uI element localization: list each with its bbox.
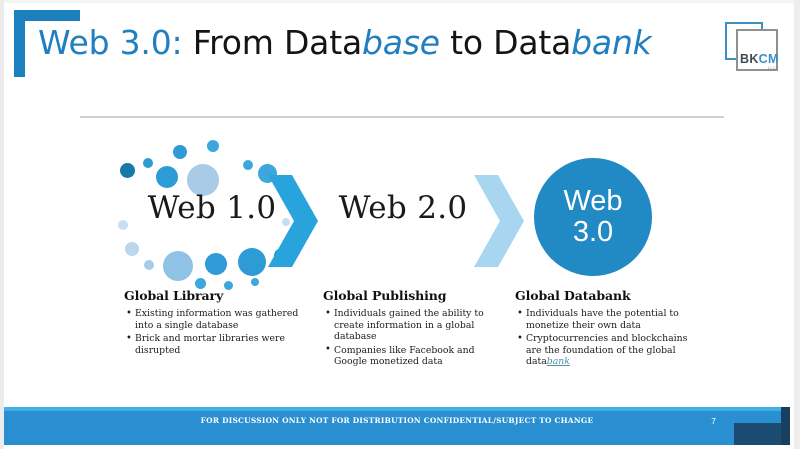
- stage-bullets-web1: Existing information was gathered into a…: [124, 308, 309, 356]
- web2-label: Web 2.0: [323, 190, 483, 226]
- footer-disclaimer: FOR DISCUSSION ONLY NOT FOR DISTRIBUTION…: [4, 416, 790, 425]
- chevron-arrow-2-icon: [472, 173, 528, 269]
- list-item: Individuals have the potential to moneti…: [526, 308, 700, 331]
- stage-column-web3: Global Databank Individuals have the pot…: [515, 288, 700, 370]
- footer-top-highlight: [4, 407, 790, 411]
- dot-14-icon: [163, 251, 193, 281]
- dot-6-icon: [243, 160, 253, 170]
- stage-bullets-web3: Individuals have the potential to moneti…: [515, 308, 700, 368]
- dot-3-icon: [120, 163, 135, 178]
- chevron-arrow-1-icon: [266, 173, 322, 269]
- stage-bullets-web2: Individuals gained the ability to create…: [323, 308, 508, 368]
- list-item: Brick and mortar libraries were disrupte…: [135, 333, 309, 356]
- stage-heading-global-databank: Global Databank: [515, 288, 700, 303]
- dot-15-icon: [205, 253, 227, 275]
- dot-20-icon: [251, 278, 259, 286]
- stage-column-web1: Global Library Existing information was …: [124, 288, 309, 358]
- dot-13-icon: [144, 260, 154, 270]
- dot-16-icon: [238, 248, 266, 276]
- dot-12-icon: [125, 242, 139, 256]
- dot-4-icon: [156, 166, 178, 188]
- footer-bar: FOR DISCUSSION ONLY NOT FOR DISTRIBUTION…: [4, 407, 790, 445]
- dot-2-icon: [143, 158, 153, 168]
- web3-label-line1: Web: [563, 186, 622, 217]
- slide-canvas: Web 3.0: From Database to Databank BKCM …: [0, 0, 800, 449]
- stage-heading-global-library: Global Library: [124, 288, 309, 303]
- stage-column-web2: Global Publishing Individuals gained the…: [323, 288, 508, 370]
- web3-circle: Web 3.0: [534, 158, 652, 276]
- databank-link[interactable]: bank: [547, 356, 570, 367]
- page-number: 7: [711, 416, 716, 426]
- web3-label-line2: 3.0: [573, 217, 613, 248]
- stage-heading-global-publishing: Global Publishing: [323, 288, 508, 303]
- dot-1-icon: [207, 140, 219, 152]
- list-item: Companies like Facebook and Google monet…: [334, 345, 508, 368]
- footer-corner-accent2: [781, 407, 790, 445]
- web-evolution-diagram: Web 1.0 Web 2.0 Web 3.0 Global Library E…: [0, 0, 800, 449]
- list-item: Individuals gained the ability to create…: [334, 308, 508, 343]
- list-item: Existing information was gathered into a…: [135, 308, 309, 331]
- dot-0-icon: [173, 145, 187, 159]
- list-item: Cryptocurrencies and blockchains are the…: [526, 333, 700, 368]
- dot-18-icon: [195, 278, 206, 289]
